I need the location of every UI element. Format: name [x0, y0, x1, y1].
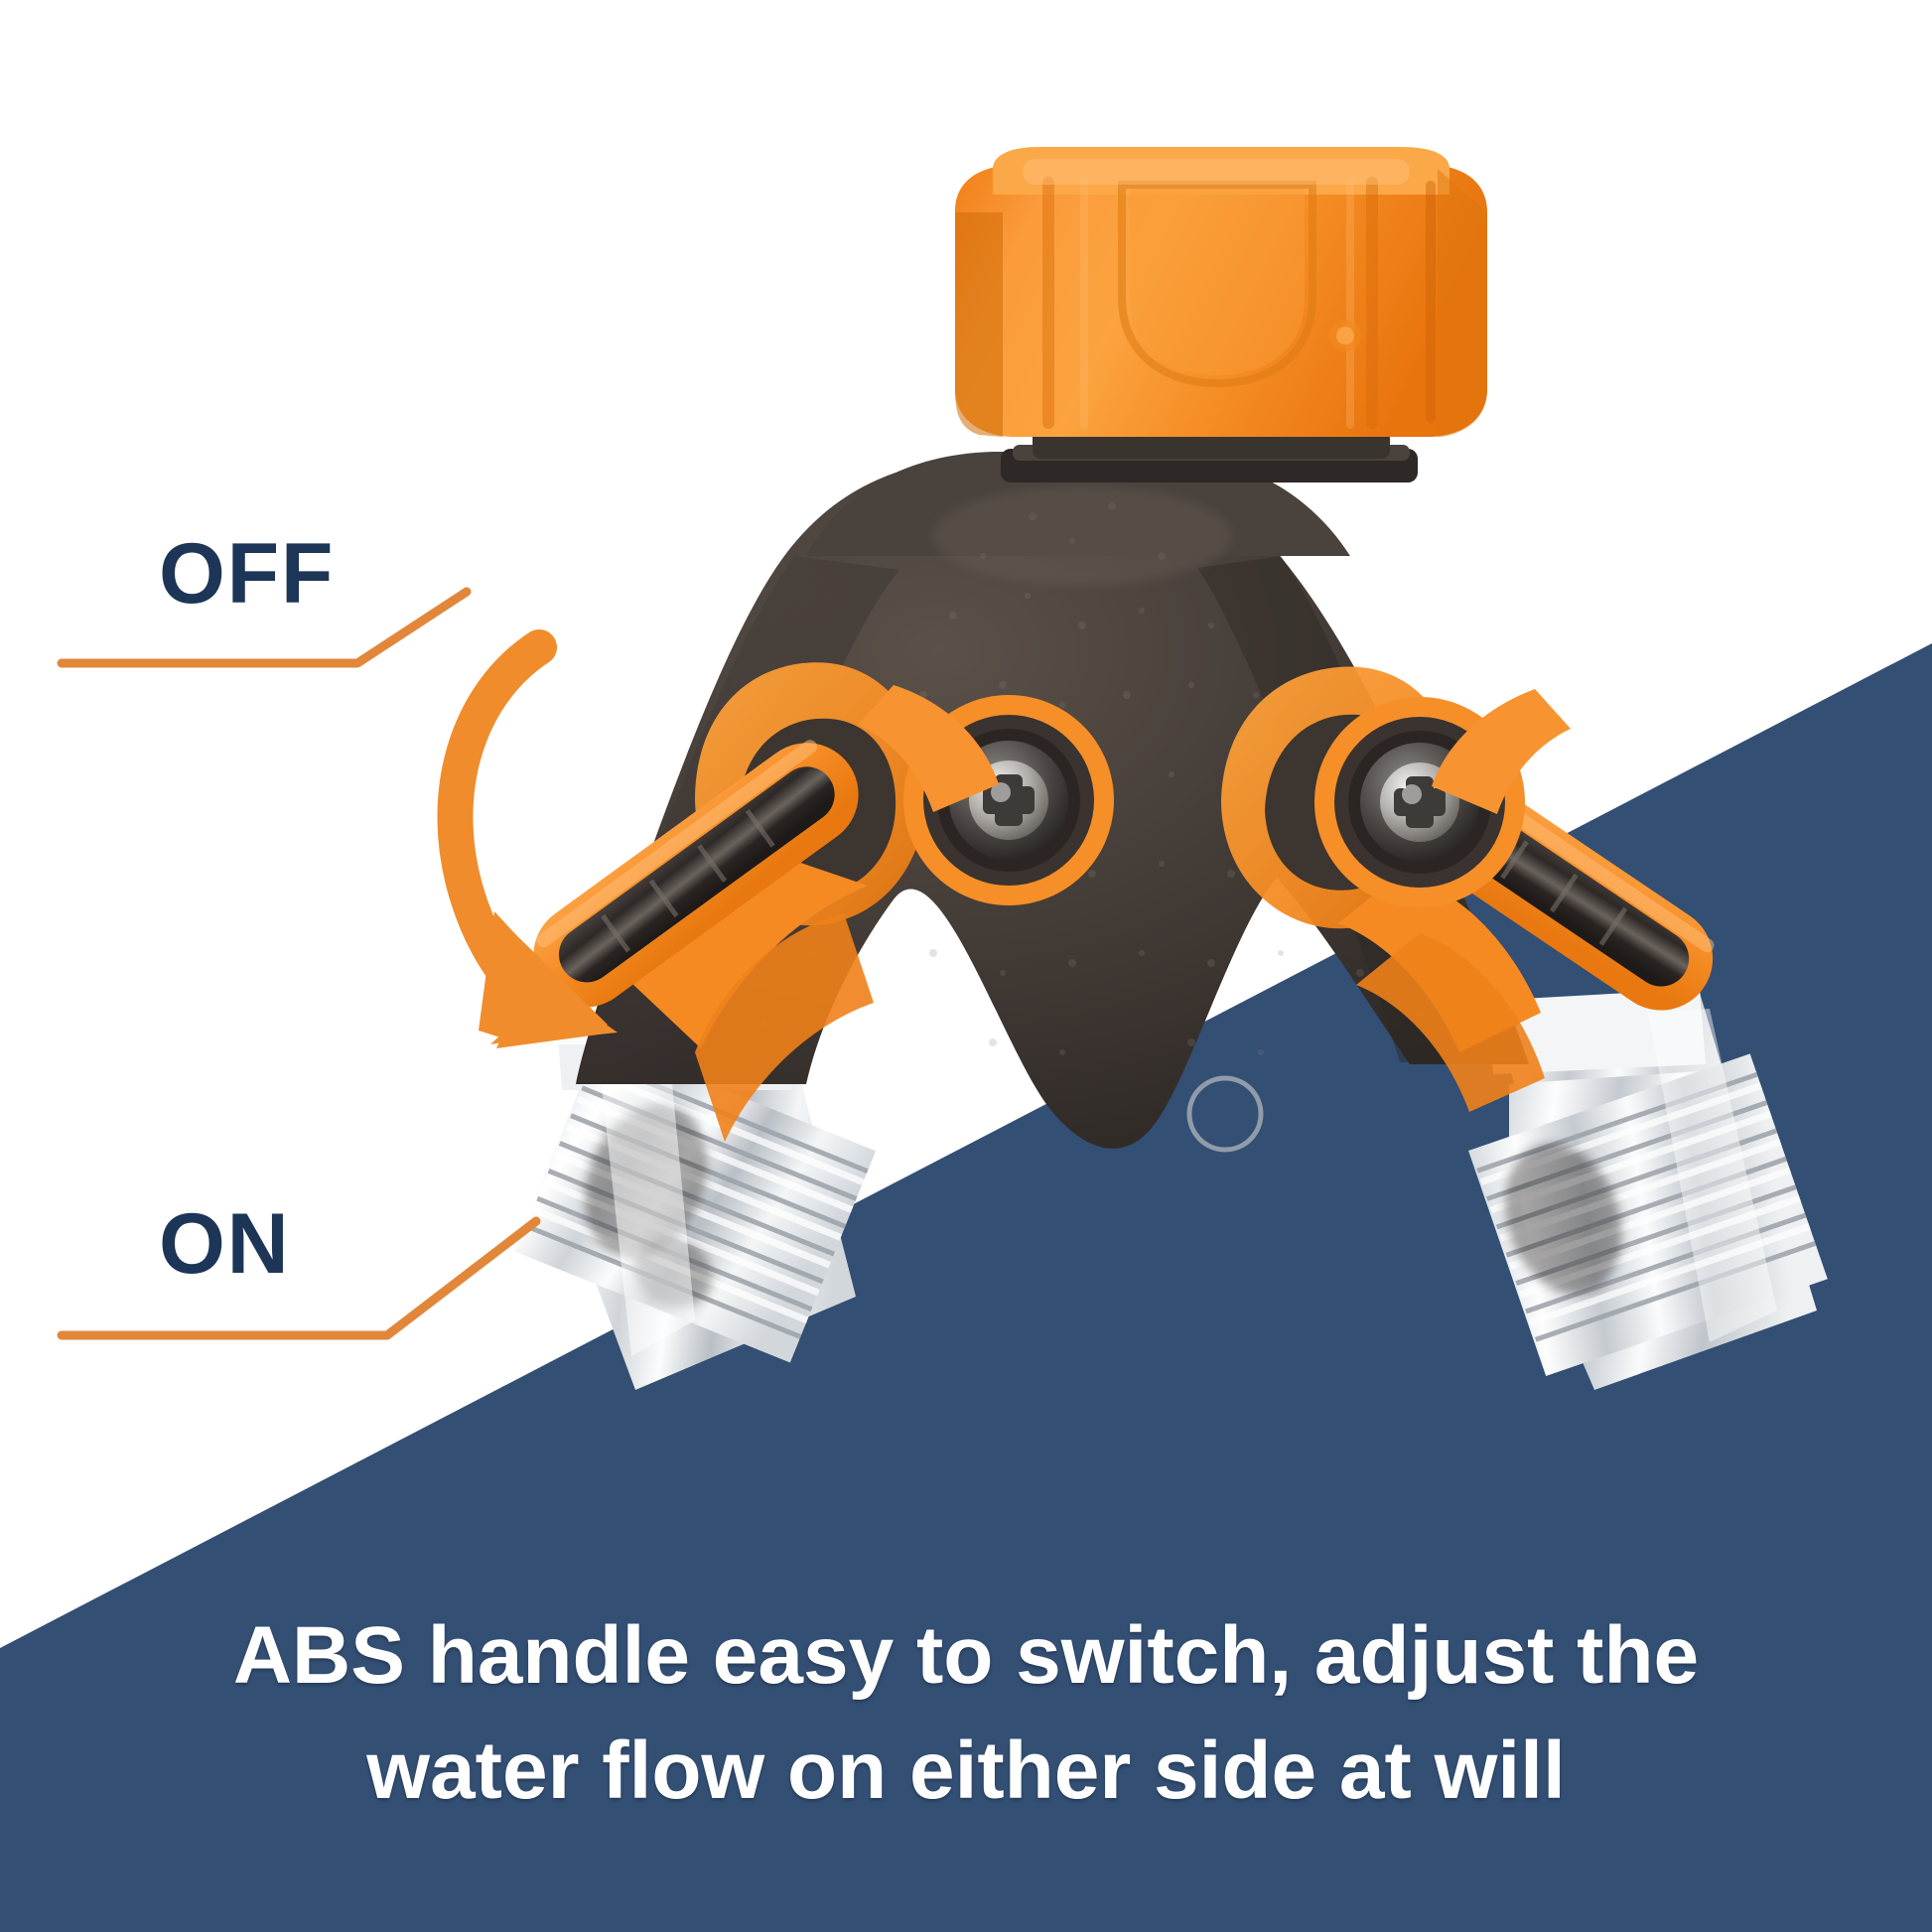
infographic-canvas: OFF ON ABS handle easy to switch, adjust…: [0, 0, 1932, 1932]
caption-line-2: water flow on either side at will: [129, 1714, 1803, 1829]
bottom-caption: ABS handle easy to switch, adjust the wa…: [0, 1598, 1932, 1830]
caption-line-1: ABS handle easy to switch, adjust the: [129, 1598, 1803, 1714]
callout-label-off: OFF: [159, 531, 335, 617]
on-leader-line: [62, 1221, 536, 1335]
curved-arrow-icon: [455, 647, 618, 1048]
callout-label-on: ON: [159, 1201, 290, 1287]
